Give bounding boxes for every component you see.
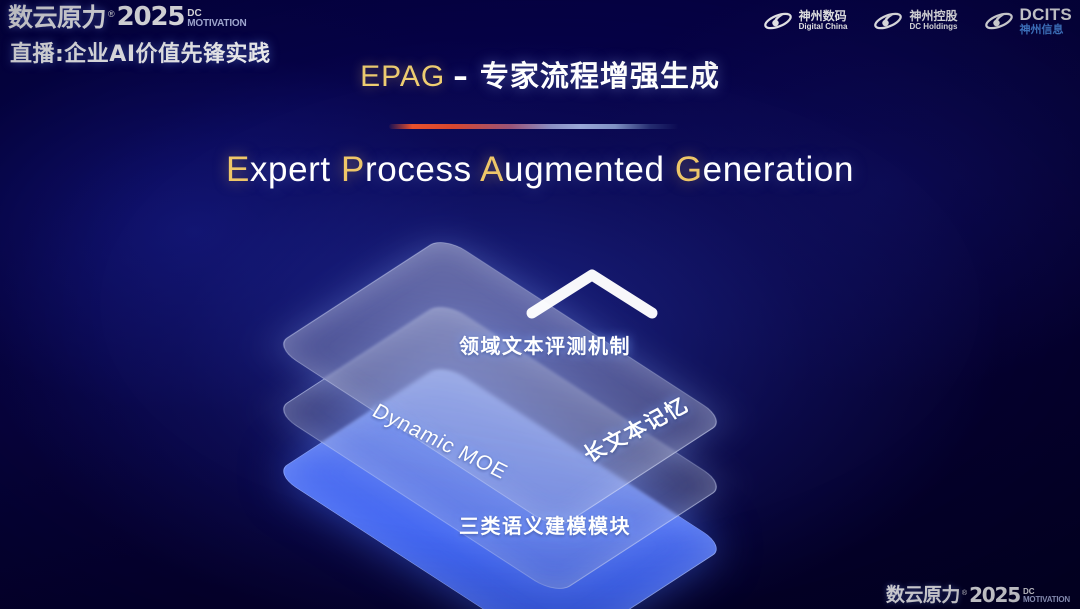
swirl-galaxy-icon — [873, 8, 903, 34]
brand-logo-bottom-right: 数云原力 ® 2025 DC MOTIVATION — [886, 585, 1070, 605]
subtitle-cap-a: A — [480, 150, 504, 189]
logo-text-block: 神州数码 Digital China — [799, 10, 848, 32]
title-chinese: – 专家流程增强生成 — [453, 59, 720, 93]
subtitle-cap-p: P — [341, 150, 365, 189]
subtitle-cap-g: G — [675, 150, 703, 189]
isometric-layer-diagram: 领域文本评测机制 Dynamic MOE 长文本记忆 三类语义建模模块 — [290, 225, 800, 575]
brand-motivation: MOTIVATION — [1023, 596, 1070, 604]
subtitle-expansion: Expert Process Augmented Generation — [0, 150, 1080, 190]
slide-canvas: 数云原力 ® 2025 DC MOTIVATION 直播:企业AI价值先锋实践 … — [0, 0, 1080, 609]
brand-tagline-stack: DC MOTIVATION — [187, 9, 246, 29]
brand-year: 2025 — [969, 585, 1020, 605]
logo-name-cn: 神州数码 — [799, 10, 848, 23]
swirl-galaxy-icon — [984, 8, 1014, 34]
subtitle-word-generation: eneration — [703, 150, 854, 189]
layer-label-top: 领域文本评测机制 — [290, 330, 800, 359]
title-acronym: EPAG — [360, 60, 445, 93]
brand-logo-lockup: 数云原力 ® 2025 DC MOTIVATION — [8, 4, 271, 30]
subtitle-word-process: rocess — [365, 150, 480, 189]
logo-dcits: DCITS 神州信息 — [984, 6, 1073, 36]
logo-text-block: 神州控股 DC Holdings — [909, 10, 957, 32]
brand-motivation: MOTIVATION — [187, 19, 246, 29]
gradient-divider — [389, 124, 679, 129]
logo-name-cn: 神州控股 — [909, 10, 957, 23]
subtitle-word-expert: xpert — [250, 150, 341, 189]
registered-mark-icon: ® — [108, 10, 115, 19]
brand-year: 2025 — [117, 4, 185, 30]
logo-name-en: DC Holdings — [909, 23, 957, 32]
logo-dc-holdings: 神州控股 DC Holdings — [873, 8, 957, 34]
brand-name-cn: 数云原力 — [8, 5, 106, 30]
subtitle-word-augmented: ugmented — [504, 150, 675, 189]
logo-text-block: DCITS 神州信息 — [1020, 6, 1073, 36]
brand-tagline-stack: DC MOTIVATION — [1023, 588, 1070, 604]
layer-label-bottom: 三类语义建模模块 — [290, 510, 800, 539]
brand-logo-lockup: 数云原力 ® 2025 DC MOTIVATION — [886, 585, 1070, 605]
subtitle-cap-e: E — [226, 150, 250, 189]
logo-name-cn: 神州信息 — [1020, 23, 1073, 36]
logo-name-en: Digital China — [799, 23, 848, 32]
logo-digital-china: 神州数码 Digital China — [763, 8, 848, 34]
partner-logo-bar: 神州数码 Digital China 神州控股 DC Holdings — [763, 6, 1072, 36]
swirl-galaxy-icon — [763, 8, 793, 34]
brand-name-cn: 数云原力 — [886, 586, 960, 605]
logo-brand-dcits: DCITS — [1020, 6, 1073, 23]
page-title: EPAG– 专家流程增强生成 — [0, 53, 1080, 95]
registered-mark-icon: ® — [962, 590, 967, 597]
